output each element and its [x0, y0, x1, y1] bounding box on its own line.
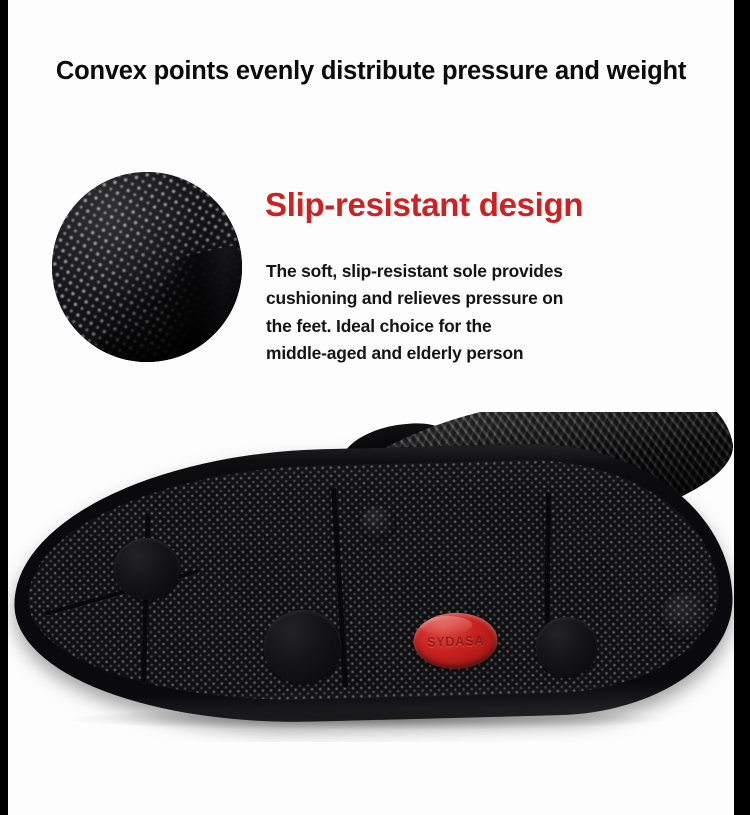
convex-dot-texture-closeup [52, 172, 242, 362]
page-headline: Convex points evenly distribute pressure… [8, 57, 734, 86]
left-black-band [0, 0, 8, 815]
feature-title: Slip-resistant design [265, 186, 583, 224]
right-black-band [734, 0, 750, 815]
description-line: cushioning and relieves pressure on [266, 285, 698, 312]
description-line: middle-aged and elderly person [266, 340, 698, 367]
description-line: The soft, slip-resistant sole provides [266, 258, 698, 285]
outsole-body: SYDASA [11, 439, 734, 730]
description-line: the feet. Ideal choice for the [266, 313, 698, 340]
embossed-logo-mark [659, 589, 712, 642]
shoe-outsole-photo: SYDASA [8, 412, 734, 742]
macro-lighting-overlay [52, 172, 242, 362]
product-feature-image: Convex points evenly distribute pressure… [0, 0, 750, 815]
ground-shadow [68, 708, 668, 730]
feature-description: The soft, slip-resistant sole provides c… [266, 258, 698, 368]
brand-medallion-label: SYDASA [427, 632, 485, 649]
white-canvas: Convex points evenly distribute pressure… [8, 0, 734, 815]
